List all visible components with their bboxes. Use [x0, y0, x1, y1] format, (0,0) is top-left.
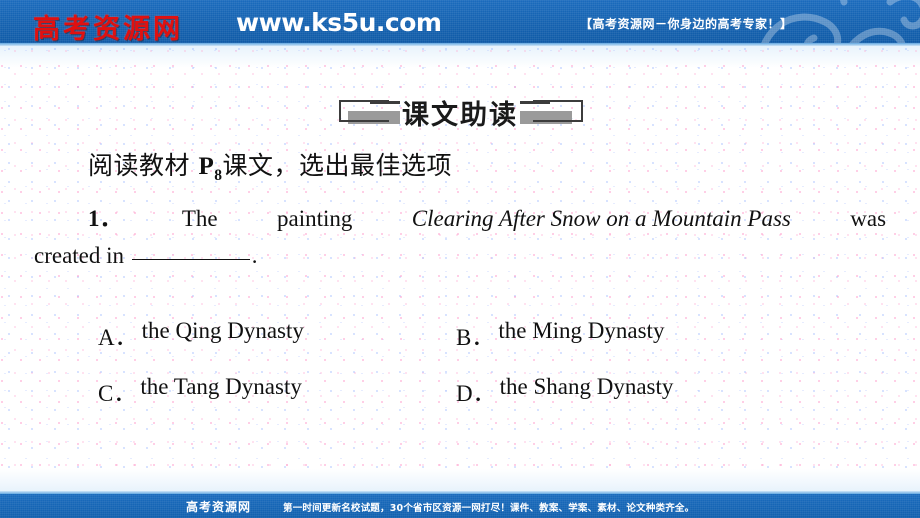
option-a[interactable]: A． the Qing Dynasty: [98, 318, 456, 352]
instruction-page-ref: P8: [198, 153, 222, 180]
page-letter: P: [198, 153, 214, 180]
options-list: A． the Qing Dynasty B． the Ming Dynasty …: [98, 318, 858, 430]
title-decoration-right-icon: [522, 97, 586, 127]
painting-title: Clearing After Snow on a Mountain Pass: [412, 200, 791, 237]
section-title-block: 课文助读: [0, 88, 920, 136]
footer-tagline: 第一时间更新名校试题，30个省市区资源一网打尽！课件、教案、学案、素材、论文种类…: [283, 500, 694, 514]
question-word-the: The: [182, 200, 218, 237]
option-b[interactable]: B． the Ming Dynasty: [456, 318, 664, 352]
option-a-text: the Qing Dynasty: [142, 318, 304, 352]
question-word-was: was: [850, 200, 886, 237]
option-c[interactable]: C． the Tang Dynasty: [98, 374, 456, 408]
header-underline-band: [0, 43, 920, 46]
answer-blank[interactable]: [132, 259, 250, 260]
question-1: 1． The painting Clearing After Snow on a…: [88, 200, 886, 275]
instruction-prefix: 阅读教材: [88, 151, 198, 180]
site-tagline: 【高考资源网－你身边的高考专家！】: [580, 15, 793, 32]
option-c-letter: C．: [98, 374, 136, 408]
instruction-line: 阅读教材 P8课文，选出最佳选项: [88, 146, 452, 185]
question-word-painting: painting: [277, 200, 352, 237]
option-b-text: the Ming Dynasty: [498, 318, 664, 352]
option-d[interactable]: D． the Shang Dynasty: [456, 374, 673, 408]
question-line2-prefix: created in: [34, 243, 124, 268]
footer-logo: 高考资源网: [186, 498, 251, 515]
question-number: 1．: [88, 200, 123, 237]
question-line-2: created in .: [34, 237, 886, 274]
question-line-1: 1． The painting Clearing After Snow on a…: [88, 200, 886, 237]
option-d-text: the Shang Dynasty: [500, 374, 674, 408]
footer-fade-gradient: [0, 469, 920, 491]
options-row-1: A． the Qing Dynasty B． the Ming Dynasty: [98, 318, 858, 352]
question-line2-suffix: .: [252, 243, 258, 268]
option-c-text: the Tang Dynasty: [140, 374, 302, 408]
page-root: 高考资源网 www.ks5u.com 【高考资源网－你身边的高考专家！】 课文助…: [0, 0, 920, 518]
site-header-banner: 高考资源网 www.ks5u.com 【高考资源网－你身边的高考专家！】: [0, 0, 920, 43]
site-logo-chinese: 高考资源网: [33, 7, 183, 43]
section-title: 课文助读: [398, 93, 522, 132]
option-d-letter: D．: [456, 374, 496, 408]
site-logo-url: www.ks5u.com: [236, 8, 441, 37]
instruction-suffix: 课文，选出最佳选项: [222, 151, 452, 180]
options-row-2: C． the Tang Dynasty D． the Shang Dynasty: [98, 374, 858, 408]
option-a-letter: A．: [98, 318, 138, 352]
option-b-letter: B．: [456, 318, 494, 352]
site-footer-banner: 高考资源网 第一时间更新名校试题，30个省市区资源一网打尽！课件、教案、学案、素…: [0, 494, 920, 518]
header-fade-gradient: [0, 46, 920, 68]
title-decoration-left-icon: [334, 97, 398, 127]
